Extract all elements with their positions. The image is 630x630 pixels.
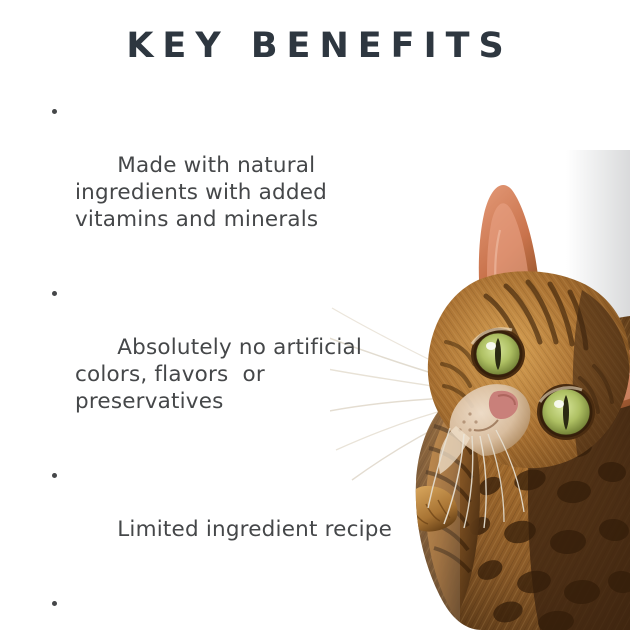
list-item: Made with natural ingredients with added…	[48, 98, 420, 260]
list-item: Grain Free	[48, 590, 420, 630]
bullet-icon	[52, 109, 57, 114]
key-benefits-panel: KEY BENEFITS Made with natural ingredien…	[0, 0, 630, 630]
cat-eye-lower	[537, 384, 595, 440]
list-item-label: Absolutely no artificial colors, flavors…	[75, 335, 369, 414]
cat-eye-upper	[471, 328, 525, 380]
bullet-icon	[52, 473, 57, 478]
list-item: Limited ingredient recipe	[48, 462, 420, 570]
benefits-list: Made with natural ingredients with added…	[48, 98, 420, 630]
bullet-icon	[52, 291, 57, 296]
page-title: KEY BENEFITS	[0, 26, 630, 66]
list-item-label: Made with natural ingredients with added…	[75, 153, 334, 232]
list-item: Absolutely no artificial colors, flavors…	[48, 280, 420, 442]
list-item-label: Limited ingredient recipe	[117, 517, 392, 542]
bullet-icon	[52, 601, 57, 606]
